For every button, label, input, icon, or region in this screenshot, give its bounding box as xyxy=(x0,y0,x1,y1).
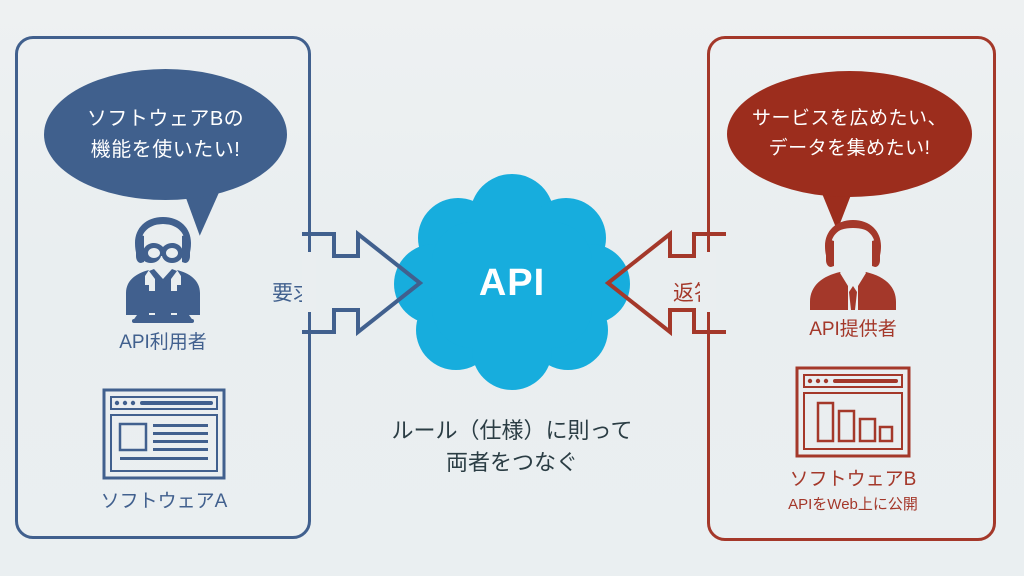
software-a-label: ソフトウェアA xyxy=(101,486,228,513)
consumer-frame-arrow-gap xyxy=(302,252,316,312)
person-bust-icon xyxy=(802,218,904,310)
arrow-right-outline-icon xyxy=(300,228,426,338)
consumer-speech-bubble: ソフトウェアBの 機能を使いたい! xyxy=(44,69,287,200)
consumer-bubble-line-2: 機能を使いたい! xyxy=(91,135,241,166)
api-provider-figure: API提供者 xyxy=(778,218,928,341)
api-cloud-label: API xyxy=(392,262,632,305)
api-consumer-label: API利用者 xyxy=(119,327,207,354)
cloud-caption-line-1: ルール（仕様）に則って xyxy=(352,415,672,447)
software-b-sublabel: APIをWeb上に公開 xyxy=(788,493,918,514)
browser-window-bar-chart-icon xyxy=(795,366,911,458)
provider-bubble-line-2: データを集めたい! xyxy=(769,134,931,164)
cloud-caption: ルール（仕様）に則って 両者をつなぐ xyxy=(352,415,672,479)
software-a-block: ソフトウェアA xyxy=(66,388,262,513)
person-with-laptop-icon xyxy=(107,215,219,323)
api-provider-label: API提供者 xyxy=(809,314,897,341)
provider-bubble-line-1: サービスを広めたい、 xyxy=(752,104,947,134)
provider-frame-arrow-gap xyxy=(700,252,716,312)
browser-window-document-icon xyxy=(102,388,226,480)
cloud-caption-line-2: 両者をつなぐ xyxy=(352,447,672,479)
software-b-block: ソフトウェアB APIをWeb上に公開 xyxy=(772,366,934,514)
consumer-bubble-line-1: ソフトウェアBの xyxy=(87,104,244,135)
api-consumer-figure: API利用者 xyxy=(78,215,248,354)
provider-speech-bubble: サービスを広めたい、 データを集めたい! xyxy=(727,71,972,197)
diagram-canvas: ソフトウェアBの 機能を使いたい! xyxy=(0,0,1024,576)
software-b-label: ソフトウェアB xyxy=(790,464,917,491)
